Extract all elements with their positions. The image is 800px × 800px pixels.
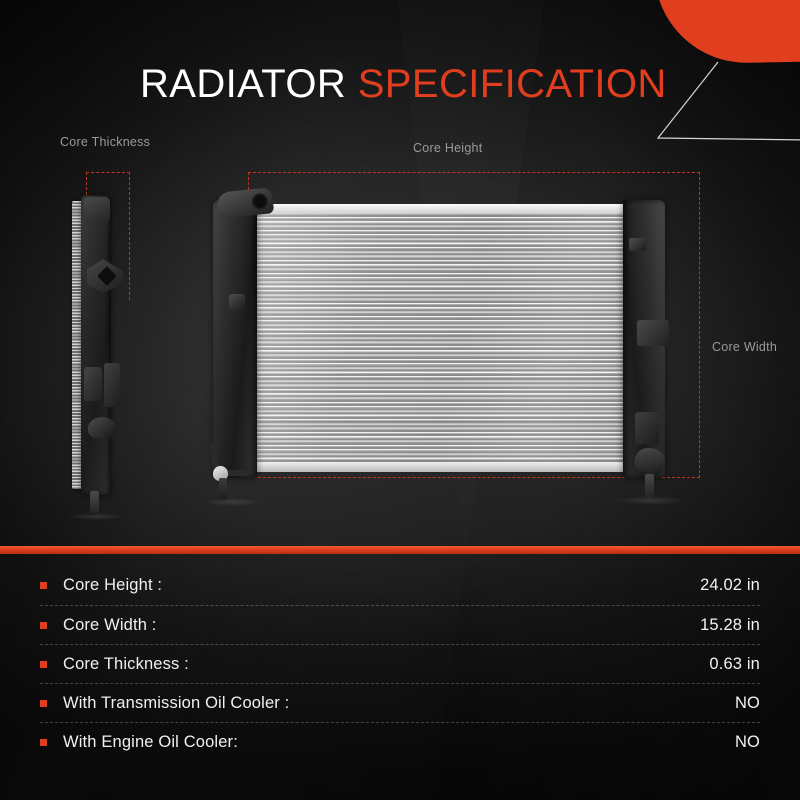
core-highlight: [255, 204, 625, 472]
table-row: Core Width : 15.28 in: [40, 605, 760, 644]
page-title-accent: SPECIFICATION: [358, 62, 667, 106]
side-bracket-lower: [104, 363, 120, 407]
label-core-thickness: Core Thickness: [60, 135, 150, 149]
left-sensor-port: [229, 294, 245, 310]
mounting-pin-left: [219, 478, 227, 500]
bullet-square-icon: [40, 700, 47, 707]
spec-value: NO: [735, 733, 760, 752]
section-divider-bar: [0, 546, 800, 554]
table-row: Core Thickness : 0.63 in: [40, 644, 760, 683]
spec-value: NO: [735, 694, 760, 713]
spec-label: With Transmission Oil Cooler :: [63, 694, 289, 713]
bullet-square-icon: [40, 661, 47, 668]
front-drop-shadow-right: [615, 496, 687, 505]
side-mounting-pin: [90, 491, 99, 513]
table-row: Core Height : 24.02 in: [40, 566, 760, 605]
side-drop-shadow: [68, 513, 126, 520]
mounting-pin-right: [645, 474, 654, 498]
side-bracket-upper: [84, 367, 102, 401]
right-bracket-upper: [637, 320, 669, 346]
spec-value: 15.28 in: [700, 616, 760, 635]
label-core-height: Core Height: [413, 141, 482, 155]
bullet-square-icon: [40, 582, 47, 589]
tank-left: [213, 200, 257, 478]
spec-label: Core Height :: [63, 576, 162, 595]
core-rail-bottom: [255, 463, 625, 472]
side-filler-cap: [84, 197, 110, 223]
spec-value: 0.63 in: [709, 655, 760, 674]
radiator-side-view: [60, 195, 138, 505]
front-drop-shadow-left: [203, 498, 263, 506]
specification-table: Core Height : 24.02 in Core Width : 15.2…: [0, 566, 800, 761]
side-outlet-port: [88, 417, 116, 439]
spec-label: With Engine Oil Cooler:: [63, 733, 238, 752]
bullet-square-icon: [40, 739, 47, 746]
spec-label: Core Thickness :: [63, 655, 189, 674]
table-row: With Engine Oil Cooler: NO: [40, 722, 760, 761]
label-core-width: Core Width: [712, 340, 777, 354]
spec-label: Core Width :: [63, 616, 157, 635]
core-fin-block: [255, 204, 625, 472]
product-spec-page: RADIATOR SPECIFICATION Core Thickness Co…: [0, 0, 800, 800]
bullet-square-icon: [40, 622, 47, 629]
page-title: RADIATOR SPECIFICATION: [140, 64, 667, 104]
page-title-primary: RADIATOR: [140, 62, 346, 106]
radiator-front-view: [205, 190, 675, 505]
spec-value: 24.02 in: [700, 576, 760, 595]
right-sensor-port: [629, 238, 646, 251]
table-row: With Transmission Oil Cooler : NO: [40, 683, 760, 722]
right-bracket-lower: [635, 412, 659, 444]
core-rail-top: [255, 204, 625, 213]
side-tank-body: [81, 195, 111, 495]
